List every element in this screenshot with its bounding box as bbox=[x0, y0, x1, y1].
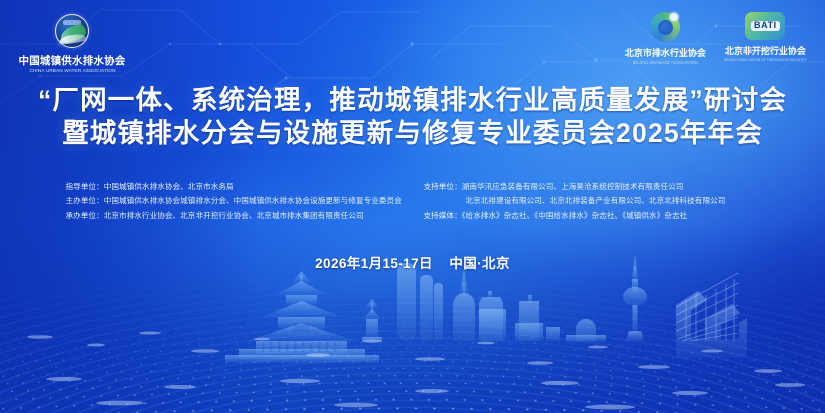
cuwa-name-cn: 中国城镇供水排水协会 bbox=[19, 53, 126, 68]
supporter-row: 支持单位：湖南华汛应急装备有限公司、上海昊沧系统控制技术有限责任公司 bbox=[424, 180, 776, 194]
bati-badge-logo-icon: BATI bbox=[745, 12, 785, 40]
organizer-label: 承办单位： bbox=[66, 211, 104, 220]
partner-logos-block: 北京市排水行业协会 BEIJING DRAINAGE ASSOCIATION B… bbox=[625, 12, 809, 65]
organizer-value: 中国城镇供水排水协会城镇排水分会、中国城镇供水排水协会设施更新与修复专业委员会 bbox=[104, 196, 402, 205]
bati-logo-block: BATI 北京非开挖行业协会 BEIJING ASSOCIATION OF TR… bbox=[722, 12, 809, 62]
cuwa-name-en: CHINA URBAN WATER ASSOCIATION bbox=[29, 69, 115, 74]
organizer-info-block: 指导单位：中国城镇供水排水协会、北京市水务局 主办单位：中国城镇供水排水协会城镇… bbox=[0, 180, 825, 223]
poster-title-block: “厂网一体、系统治理，推动城镇排水行业高质量发展”研讨会 暨城镇排水分会与设施更… bbox=[0, 84, 825, 150]
cuwa-logo-block: 中国城镇供水排水协会 CHINA URBAN WATER ASSOCIATION bbox=[18, 14, 126, 74]
bati-name-en: BEIJING ASSOCIATION OF TRENCHLESS INDUST… bbox=[724, 58, 807, 62]
organizer-column-left: 指导单位：中国城镇供水排水协会、北京市水务局 主办单位：中国城镇供水排水协会城镇… bbox=[50, 180, 402, 223]
supporter-value: 湖南华汛应急装备有限公司、上海昊沧系统控制技术有限责任公司 bbox=[462, 182, 684, 191]
conference-location: 中国·北京 bbox=[449, 256, 510, 271]
organizer-label: 指导单位： bbox=[66, 182, 104, 191]
conference-poster: 中国城镇供水排水协会 CHINA URBAN WATER ASSOCIATION… bbox=[0, 0, 825, 413]
water-shimmer-icon bbox=[0, 293, 825, 413]
supporter-value: 北京北排建设有限公司、北京北排装备产业有限公司、北京北排科技有限公司 bbox=[466, 196, 726, 205]
organizer-row: 承办单位：北京市排水行业协会、北京非开挖行业协会、北京城市排水集团有限责任公司 bbox=[66, 209, 402, 223]
supporter-row: 北京北排建设有限公司、北京北排装备产业有限公司、北京北排科技有限公司 bbox=[424, 194, 776, 208]
beijing-drainage-association-ring-logo-icon bbox=[650, 12, 680, 42]
dotted-perspective-plane-icon bbox=[0, 262, 825, 413]
cuwa-circle-leaf-water-logo-icon bbox=[55, 14, 89, 48]
organizer-row: 指导单位：中国城镇供水排水协会、北京市水务局 bbox=[66, 180, 402, 194]
media-row: 支持媒体：《给水排水》杂志社、《中国给水排水》杂志社、《城镇供水》杂志社 bbox=[424, 209, 776, 223]
bda-name-en: BEIJING DRAINAGE ASSOCIATION bbox=[633, 60, 698, 65]
title-line-1: “厂网一体、系统治理，推动城镇排水行业高质量发展”研讨会 bbox=[0, 84, 825, 116]
supporter-label: 支持单位： bbox=[424, 182, 462, 191]
organizer-label: 主办单位： bbox=[66, 196, 104, 205]
conference-date: 2026年1月15-17日 bbox=[315, 256, 433, 271]
organizer-column-right: 支持单位：湖南华汛应急装备有限公司、上海昊沧系统控制技术有限责任公司 北京北排建… bbox=[424, 180, 776, 223]
bati-badge-text: BATI bbox=[751, 21, 780, 30]
water-ripple-rings bbox=[0, 253, 825, 413]
media-label: 支持媒体： bbox=[424, 211, 462, 220]
organizer-value: 中国城镇供水排水协会、北京市水务局 bbox=[104, 182, 234, 191]
title-line-2: 暨城镇排水分会与设施更新与修复专业委员会2025年年会 bbox=[0, 116, 825, 150]
bati-name-cn: 北京非开挖行业协会 bbox=[725, 44, 806, 57]
media-value: 《给水排水》杂志社、《中国给水排水》杂志社、《城镇供水》杂志社 bbox=[462, 211, 688, 220]
cctv-headquarters-icon bbox=[676, 273, 747, 358]
date-location-block: 2026年1月15-17日 中国·北京 bbox=[0, 252, 825, 273]
bda-name-cn: 北京市排水行业协会 bbox=[625, 46, 706, 59]
bda-logo-block: 北京市排水行业协会 BEIJING DRAINAGE ASSOCIATION bbox=[625, 12, 706, 65]
organizer-value: 北京市排水行业协会、北京非开挖行业协会、北京城市排水集团有限责任公司 bbox=[104, 211, 364, 220]
organizer-row: 主办单位：中国城镇供水排水协会城镇排水分会、中国城镇供水排水协会设施更新与修复专… bbox=[66, 194, 402, 208]
